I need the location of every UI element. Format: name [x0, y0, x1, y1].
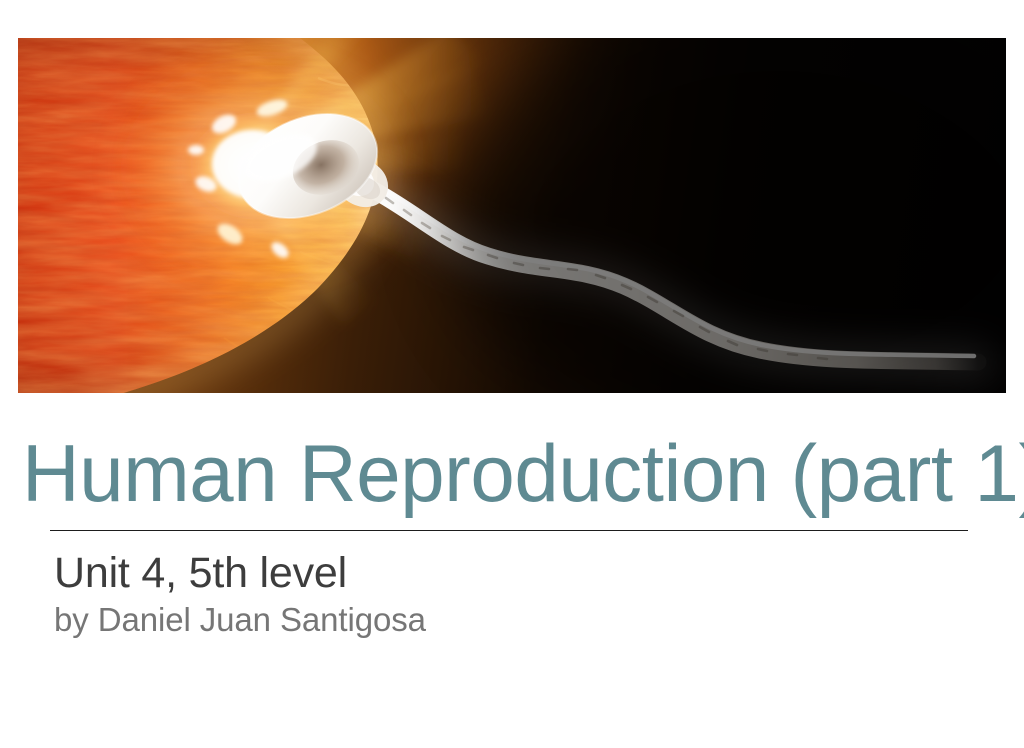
author-byline: by Daniel Juan Santigosa — [54, 600, 426, 640]
sperm-fertilizing-egg-photo — [18, 38, 1006, 393]
hero-image-frame — [18, 38, 1006, 393]
right-vignette — [448, 38, 1006, 393]
page-title: Human Reproduction (part 1) — [22, 430, 1007, 518]
subtitle-text: Unit 4, 5th level — [54, 548, 347, 598]
slide-root: Human Reproduction (part 1) Unit 4, 5th … — [0, 0, 1024, 748]
title-divider — [50, 530, 968, 531]
